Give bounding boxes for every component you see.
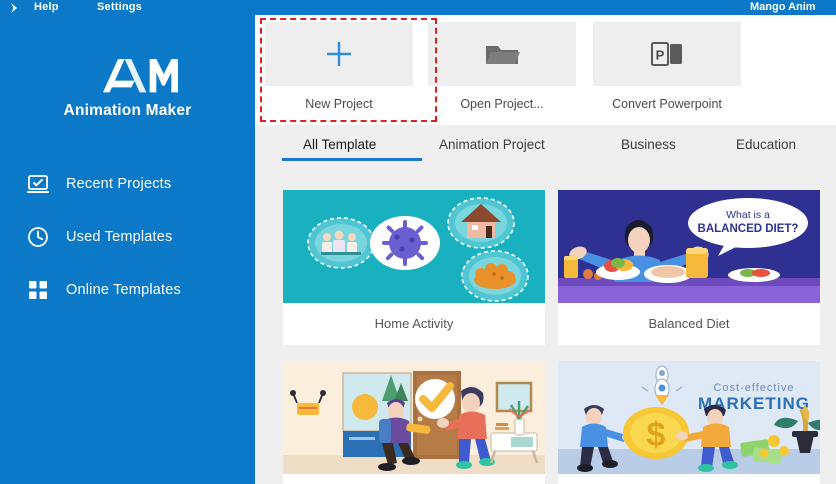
- template-card[interactable]: [283, 361, 545, 484]
- template-card-label: Balanced Diet: [558, 303, 820, 345]
- tab-animation-project[interactable]: Animation Project: [439, 137, 545, 152]
- template-card[interactable]: Home Activity: [283, 190, 545, 345]
- tab-education[interactable]: Education: [736, 137, 796, 152]
- balanced-diet-illustration: What is a BALANCED DIET?: [558, 190, 820, 303]
- svg-text:P: P: [656, 48, 665, 63]
- laptop-check-icon: [26, 172, 50, 196]
- home-delivery-illustration: [283, 361, 545, 474]
- template-thumbnail: Cost-effective MARKETING: [558, 361, 820, 474]
- tab-business[interactable]: Business: [621, 137, 676, 152]
- home-activity-illustration: [283, 190, 545, 303]
- new-project-button[interactable]: New Project: [265, 22, 413, 117]
- new-project-tile: [265, 22, 413, 86]
- sidebar-item-recent-projects[interactable]: Recent Projects: [0, 166, 255, 202]
- svg-text:BALANCED DIET?: BALANCED DIET?: [698, 223, 799, 235]
- menu-settings[interactable]: Settings: [97, 1, 142, 14]
- clock-icon: [26, 225, 50, 249]
- template-card[interactable]: What is a BALANCED DIET?: [558, 190, 820, 345]
- convert-powerpoint-label: Convert Powerpoint: [593, 97, 741, 111]
- sidebar-item-used-templates[interactable]: Used Templates: [0, 219, 255, 255]
- tab-active-underline: [282, 158, 422, 161]
- template-content-area: All Template Animation Project Business …: [255, 125, 836, 484]
- powerpoint-icon: P: [651, 41, 683, 67]
- open-project-tile: [428, 22, 576, 86]
- svg-text:$: $: [647, 416, 666, 454]
- menu-help[interactable]: Help: [34, 1, 59, 14]
- tab-all-template[interactable]: All Template: [303, 137, 376, 152]
- template-card[interactable]: Cost-effective MARKETING: [558, 361, 820, 484]
- am-logo-icon: [78, 52, 178, 96]
- folder-icon: [484, 40, 520, 68]
- template-thumbnail: [283, 361, 545, 474]
- svg-text:What is a: What is a: [726, 209, 770, 221]
- window-brand-label: Mango Anim: [750, 1, 836, 14]
- sidebar-item-online-templates[interactable]: Online Templates: [0, 272, 255, 308]
- template-thumbnail: What is a BALANCED DIET?: [558, 190, 820, 303]
- open-project-button[interactable]: Open Project...: [428, 22, 576, 117]
- sidebar-brand: Animation Maker: [0, 52, 255, 120]
- play-arrow-icon[interactable]: [8, 2, 20, 14]
- template-tabs: All Template Animation Project Business …: [255, 125, 836, 168]
- plus-icon: [322, 37, 356, 71]
- svg-text:Cost-effective: Cost-effective: [713, 382, 794, 394]
- cost-effective-marketing-illustration: Cost-effective MARKETING: [558, 361, 820, 474]
- top-menu-bar: Help Settings Mango Anim: [0, 0, 836, 15]
- brand-name: Animation Maker: [0, 102, 255, 120]
- open-project-label: Open Project...: [428, 97, 576, 111]
- template-card-label: Home Activity: [283, 303, 545, 345]
- new-project-label: New Project: [265, 97, 413, 111]
- convert-powerpoint-button[interactable]: P Convert Powerpoint: [593, 22, 741, 117]
- sidebar-item-label: Recent Projects: [66, 176, 171, 192]
- sidebar-item-label: Online Templates: [66, 282, 181, 298]
- grid-icon: [26, 278, 50, 302]
- sidebar-item-label: Used Templates: [66, 229, 173, 245]
- template-thumbnail: [283, 190, 545, 303]
- action-panel: New Project Open Project... P Convert Po…: [255, 15, 836, 125]
- convert-powerpoint-tile: P: [593, 22, 741, 86]
- sidebar: Animation Maker Recent Projects Used Tem…: [0, 0, 255, 484]
